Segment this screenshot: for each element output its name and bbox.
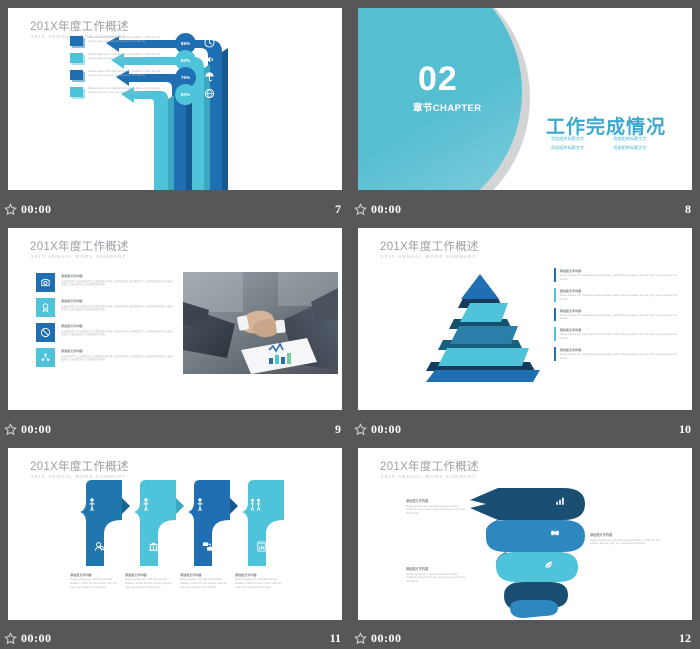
color-chip bbox=[70, 87, 83, 97]
slide-number: 8 bbox=[685, 202, 691, 217]
item-body: Please replace text, click add relevant … bbox=[560, 314, 679, 322]
slide-footer: 00:00 7 bbox=[0, 198, 350, 220]
item-body: Please replace text, click add relevant … bbox=[560, 333, 679, 341]
item-heading: 添加您文字内容 bbox=[61, 323, 174, 328]
slide-8[interactable]: 02 章节CHAPTER 工作完成情况 添加相关标题文字 添加相关标题文字 添加… bbox=[358, 8, 692, 190]
slide-footer: 00:00 9 bbox=[0, 418, 350, 440]
slide-9[interactable]: 201X年度工作概述 201X ANNUAL WORK SUMMARY 添加您文… bbox=[8, 228, 342, 410]
pyramid-diagram: 请输入文字 请添加输入文字 添加您的文字内容 添加您的文字内容 添加您的文字内容 bbox=[413, 270, 548, 382]
item-heading: 添加您文字内容 bbox=[235, 572, 287, 577]
color-chip bbox=[70, 53, 83, 63]
slide-10[interactable]: 201X年度工作概述 201X ANNUAL WORK SUMMARY bbox=[358, 228, 692, 410]
ribbon-caption[interactable]: 添加您文字内容 Please replace text, click add r… bbox=[70, 572, 122, 590]
network-icon bbox=[202, 541, 213, 552]
camera-icon bbox=[36, 273, 55, 292]
ribbon-caption[interactable]: 添加您文字内容 Please replace text, click add r… bbox=[235, 572, 287, 590]
slide-cell-9[interactable]: 201X年度工作概述 201X ANNUAL WORK SUMMARY 添加您文… bbox=[0, 220, 350, 440]
decorative-teal-circle bbox=[358, 8, 522, 190]
item-heading: 添加您文字内容 bbox=[560, 327, 679, 332]
bullet-item: 添加相关标题文字 bbox=[548, 145, 611, 151]
item-heading: 添加您文字内容 bbox=[560, 308, 679, 313]
item-heading: 添加您文字内容 bbox=[560, 268, 679, 273]
accent-bar bbox=[554, 347, 556, 361]
slide-11[interactable]: 201X年度工作概述 201X ANNUAL WORK SUMMARY bbox=[8, 448, 342, 620]
bullet-item: 添加相关标题文字 bbox=[611, 136, 674, 142]
item-heading: 添加您文字内容 bbox=[406, 566, 466, 571]
item-body: 点击添加文字 点击添加文字 点击添加文字内容 点击添加文字 点击添加文字 点击添… bbox=[61, 280, 174, 288]
list-item[interactable]: Please replace text, click add relevant … bbox=[70, 87, 166, 97]
page-subtitle: 201X ANNUAL WORK SUMMARY bbox=[31, 254, 126, 259]
bullet-item: 添加相关标题文字 bbox=[548, 136, 611, 142]
item-body: Please replace text, click add relevant … bbox=[560, 294, 679, 302]
percent-badge: 60% bbox=[175, 84, 196, 105]
slide-cell-7[interactable]: 201X年度工作概述 201X ANNUAL WORK SUMMARY 85% bbox=[0, 0, 350, 220]
star-icon[interactable] bbox=[354, 203, 367, 216]
ribbon-caption[interactable]: 添加您文字内容 Please replace text, click add r… bbox=[180, 572, 232, 590]
item-body: Please replace text, click add relevant … bbox=[590, 539, 660, 547]
item-body: 点击添加文字 点击添加文字 点击添加文字内容 点击添加文字 点击添加文字 点击添… bbox=[61, 305, 174, 313]
slide-footer: 00:00 12 bbox=[350, 627, 700, 649]
timer-label: 00:00 bbox=[371, 202, 402, 217]
accent-bar bbox=[554, 288, 556, 302]
list-item[interactable]: 添加您文字内容 点击添加文字 点击添加文字 点击添加文字内容 点击添加文字 点击… bbox=[36, 298, 174, 317]
list-item[interactable]: Please replace text, click add relevant … bbox=[70, 53, 166, 63]
leaf-icon bbox=[544, 560, 554, 570]
timer-label: 00:00 bbox=[371, 422, 402, 437]
item-heading: 添加您文字内容 bbox=[125, 572, 177, 577]
trophy-icon bbox=[36, 298, 55, 317]
item-body: Please replace text, click add relevant … bbox=[235, 578, 287, 590]
person-icon bbox=[88, 498, 96, 511]
chapter-number: 02 bbox=[418, 63, 458, 95]
list-item[interactable]: 添加您文字内容Please replace text, click add re… bbox=[554, 308, 679, 322]
list-item-text: Please replace text, click add relevant … bbox=[88, 70, 166, 78]
people-icon bbox=[250, 498, 261, 511]
spiral-caption[interactable]: 添加您文字内容 Please replace text, click add r… bbox=[590, 532, 660, 546]
slide-thumbnail-grid: 201X年度工作概述 201X ANNUAL WORK SUMMARY 85% bbox=[0, 0, 700, 649]
chapter-bullets: 添加相关标题文字 添加相关标题文字 添加相关标题文字 添加相关标题文字 bbox=[548, 136, 673, 154]
ribbon-diagram bbox=[8, 448, 342, 620]
timer-label: 00:00 bbox=[21, 631, 52, 646]
list-item[interactable]: Please replace text, click add relevant … bbox=[70, 36, 166, 46]
star-icon[interactable] bbox=[354, 423, 367, 436]
star-icon[interactable] bbox=[4, 423, 17, 436]
megaphone-icon bbox=[204, 54, 215, 65]
no-entry-icon bbox=[36, 323, 55, 342]
bullet-item: 添加相关标题文字 bbox=[611, 145, 674, 151]
user-search-icon bbox=[94, 541, 105, 552]
slide-number: 7 bbox=[335, 202, 341, 217]
clock-icon bbox=[204, 37, 215, 48]
star-icon[interactable] bbox=[354, 632, 367, 645]
item-body: Please replace text, click add relevant … bbox=[560, 274, 679, 282]
color-chip bbox=[70, 36, 83, 46]
color-chip bbox=[70, 70, 83, 80]
person-icon bbox=[196, 498, 204, 511]
list-item-text: 添加您文字内容 点击添加文字 点击添加文字 点击添加文字内容 点击添加文字 点击… bbox=[61, 323, 174, 342]
slide-7[interactable]: 201X年度工作概述 201X ANNUAL WORK SUMMARY 85% bbox=[8, 8, 342, 190]
list-item[interactable]: Please replace text, click add relevant … bbox=[70, 70, 166, 80]
slide-number: 11 bbox=[330, 631, 341, 646]
slide-footer: 00:00 10 bbox=[350, 418, 700, 440]
business-handshake-photo bbox=[183, 272, 338, 374]
item-heading: 添加您文字内容 bbox=[61, 348, 174, 353]
item-body: Please replace text, click add relevant … bbox=[406, 573, 466, 585]
item-body: Please replace text, click add relevant … bbox=[560, 353, 679, 361]
list-item[interactable]: 添加您文字内容Please replace text, click add re… bbox=[554, 268, 679, 282]
chapter-label: 章节CHAPTER bbox=[413, 100, 482, 114]
umbrella-icon bbox=[204, 71, 215, 82]
slide-footer: 00:00 8 bbox=[350, 198, 700, 220]
list-item[interactable]: 添加您文字内容 点击添加文字 点击添加文字 点击添加文字内容 点击添加文字 点击… bbox=[36, 273, 174, 292]
accent-bar bbox=[554, 268, 556, 282]
item-body: Please replace text, click add relevant … bbox=[180, 578, 232, 590]
timer-label: 00:00 bbox=[21, 202, 52, 217]
slide-cell-10[interactable]: 201X年度工作概述 201X ANNUAL WORK SUMMARY bbox=[350, 220, 700, 440]
share-nodes-icon bbox=[36, 348, 55, 367]
bar-chart-icon bbox=[555, 496, 565, 506]
person-icon bbox=[142, 498, 150, 511]
slide-cell-12[interactable]: 201X年度工作概述 201X ANNUAL WORK SUMMARY bbox=[350, 440, 700, 649]
item-heading: 添加您文字内容 bbox=[560, 288, 679, 293]
slide-cell-11[interactable]: 201X年度工作概述 201X ANNUAL WORK SUMMARY bbox=[0, 440, 350, 649]
spiral-caption[interactable]: 添加您文字内容 Please replace text, click add r… bbox=[406, 566, 466, 584]
bank-icon bbox=[148, 541, 159, 552]
star-icon[interactable] bbox=[4, 632, 17, 645]
item-body: Please replace text, click add relevant … bbox=[406, 505, 466, 517]
spiral-caption[interactable]: 添加您文字内容 Please replace text, click add r… bbox=[406, 498, 466, 516]
accent-bar bbox=[554, 308, 556, 322]
list-item-text: 添加您文字内容 点击添加文字 点击添加文字 点击添加文字内容 点击添加文字 点击… bbox=[61, 273, 174, 292]
globe-icon bbox=[204, 88, 215, 99]
chapter-headline: 工作完成情况 bbox=[546, 112, 666, 139]
butterfly-icon bbox=[550, 528, 560, 538]
list-item-text: 添加您文字内容 点击添加文字 点击添加文字 点击添加文字内容 点击添加文字 点击… bbox=[61, 298, 174, 317]
slide-number: 10 bbox=[679, 422, 691, 437]
list-item-text: 添加您文字内容 点击添加文字 点击添加文字 点击添加文字内容 点击添加文字 点击… bbox=[61, 348, 174, 367]
list-item[interactable]: 添加您文字内容 点击添加文字 点击添加文字 点击添加文字内容 点击添加文字 点击… bbox=[36, 323, 174, 342]
item-heading: 添加您文字内容 bbox=[61, 298, 174, 303]
item-heading: 添加您文字内容 bbox=[590, 532, 660, 537]
page-subtitle: 201X ANNUAL WORK SUMMARY bbox=[381, 254, 476, 259]
item-heading: 添加您文字内容 bbox=[560, 347, 679, 352]
timer-label: 00:00 bbox=[371, 631, 402, 646]
timer-label: 00:00 bbox=[21, 422, 52, 437]
list-item[interactable]: 添加您文字内容Please replace text, click add re… bbox=[554, 288, 679, 302]
list-item[interactable]: 添加您文字内容Please replace text, click add re… bbox=[554, 327, 679, 341]
bent-arrow-diagram bbox=[8, 8, 342, 190]
slide-footer: 00:00 11 bbox=[0, 627, 350, 649]
report-icon bbox=[256, 541, 267, 552]
page-title: 201X年度工作概述 bbox=[380, 238, 479, 254]
list-item[interactable]: 添加您文字内容Please replace text, click add re… bbox=[554, 347, 679, 361]
list-item-text: Please replace text, click add relevant … bbox=[88, 36, 166, 44]
page-title: 201X年度工作概述 bbox=[30, 238, 129, 254]
slide-cell-8[interactable]: 02 章节CHAPTER 工作完成情况 添加相关标题文字 添加相关标题文字 添加… bbox=[350, 0, 700, 220]
item-body: 点击添加文字 点击添加文字 点击添加文字内容 点击添加文字 点击添加文字 点击添… bbox=[61, 355, 174, 363]
pyramid-notes-list: 添加您文字内容Please replace text, click add re… bbox=[554, 268, 679, 367]
item-body: 点击添加文字 点击添加文字 点击添加文字内容 点击添加文字 点击添加文字 点击添… bbox=[61, 330, 174, 338]
item-body: Please replace text, click add relevant … bbox=[70, 578, 122, 590]
item-heading: 添加您文字内容 bbox=[70, 572, 122, 577]
item-heading: 添加您文字内容 bbox=[406, 498, 466, 503]
list-item-text: Please replace text, click add relevant … bbox=[88, 87, 166, 95]
list-item[interactable]: 添加您文字内容 点击添加文字 点击添加文字 点击添加文字内容 点击添加文字 点击… bbox=[36, 348, 174, 367]
slide-number: 9 bbox=[335, 422, 341, 437]
item-body: Please replace text, click add relevant … bbox=[125, 578, 177, 590]
accent-bar bbox=[554, 327, 556, 341]
item-heading: 添加您文字内容 bbox=[180, 572, 232, 577]
star-icon[interactable] bbox=[4, 203, 17, 216]
slide-12[interactable]: 201X年度工作概述 201X ANNUAL WORK SUMMARY bbox=[358, 448, 692, 620]
pyramid-label: 添加您的文字内容 bbox=[548, 373, 683, 378]
list-item-text: Please replace text, click add relevant … bbox=[88, 53, 166, 61]
ribbon-caption[interactable]: 添加您文字内容 Please replace text, click add r… bbox=[125, 572, 177, 590]
item-heading: 添加您文字内容 bbox=[61, 273, 174, 278]
slide-number: 12 bbox=[679, 631, 691, 646]
